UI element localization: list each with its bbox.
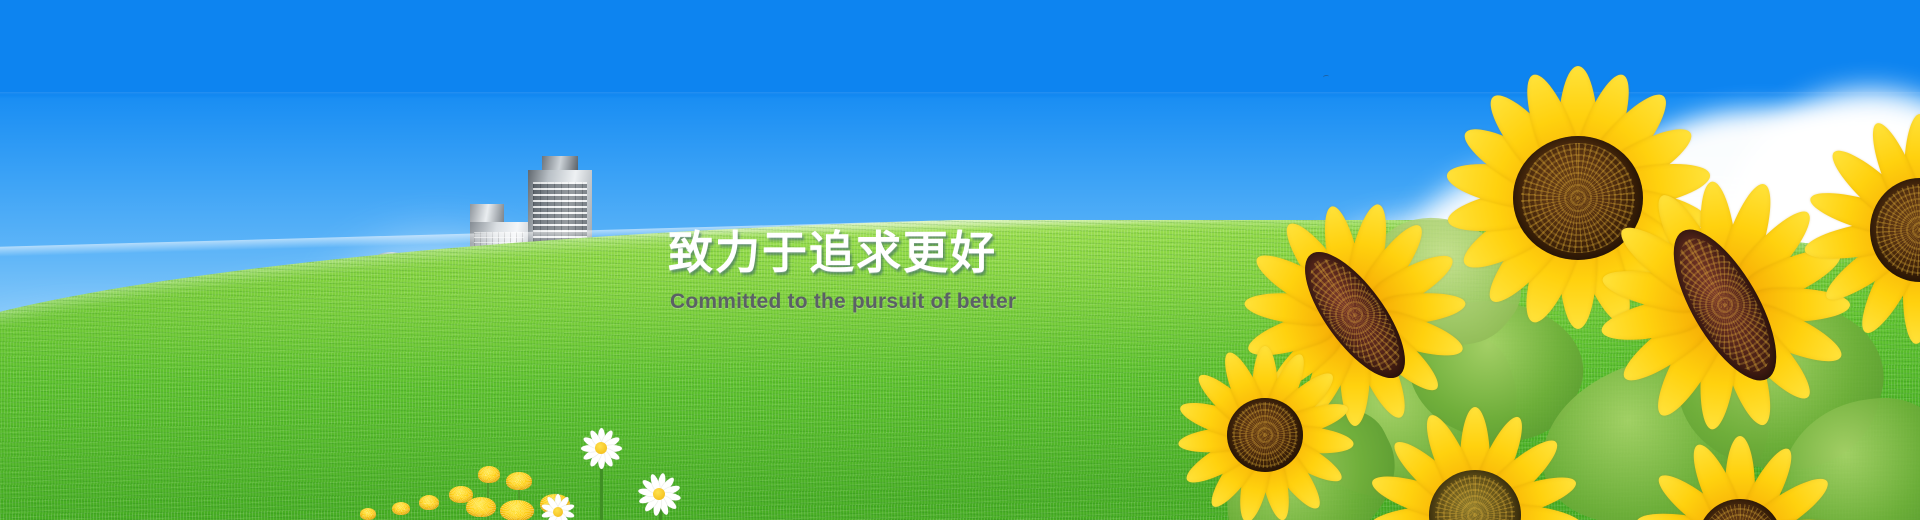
page-subtitle: Committed to the pursuit of better — [670, 290, 1288, 314]
sunflower-disc — [1227, 398, 1303, 472]
white-daisy — [633, 468, 685, 520]
yellow-dandelion — [392, 502, 410, 515]
sunflower-edge-right — [1800, 110, 1920, 350]
yellow-dandelion — [506, 472, 532, 490]
page-title: 致力于追求更好 — [668, 228, 1288, 278]
sunflower-small-left — [1170, 340, 1360, 520]
yellow-dandelion — [500, 500, 534, 520]
headline-block: 致力于追求更好 Committed to the pursuit of bett… — [668, 228, 1288, 314]
yellow-dandelion — [478, 466, 500, 483]
yellow-dandelion — [419, 495, 439, 510]
white-daisy — [576, 423, 626, 473]
sunflower-bottom-center — [1360, 400, 1590, 520]
white-daisy — [536, 490, 580, 520]
yellow-dandelion — [466, 497, 496, 517]
sunflower-bottom-right — [1630, 430, 1850, 520]
hero-banner: 致力于追求更好 Committed to the pursuit of bett… — [0, 0, 1920, 520]
yellow-dandelion — [360, 508, 376, 520]
